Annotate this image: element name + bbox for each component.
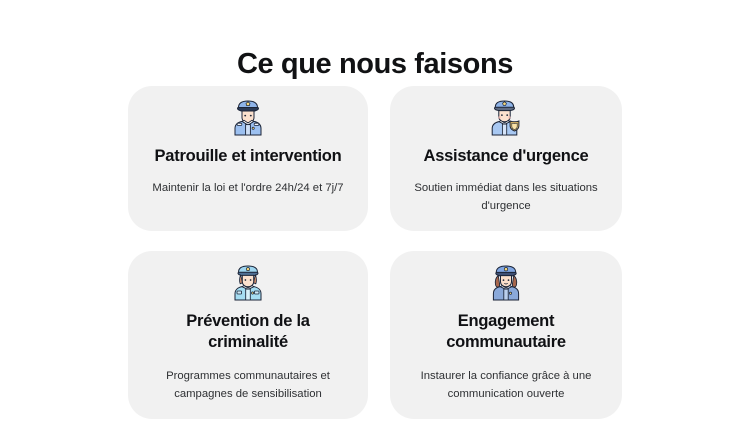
feature-card-patrol[interactable]: Patrouille et intervention Maintenir la … — [128, 86, 368, 231]
female-police-officer-braids-icon — [489, 265, 523, 301]
card-description: Soutien immédiat dans les situations d'u… — [406, 179, 606, 215]
female-police-officer-icon — [231, 265, 265, 301]
card-description: Programmes communautaires et campagnes d… — [153, 367, 343, 403]
feature-card-emergency[interactable]: Assistance d'urgence Soutien immédiat da… — [390, 86, 622, 231]
card-title: Engagement communautaire — [431, 311, 581, 353]
card-title: Patrouille et intervention — [155, 146, 342, 167]
card-title: Prévention de la criminalité — [168, 311, 328, 353]
what-we-do-section: Ce que nous faisons — [0, 0, 750, 432]
feature-cards-grid: Patrouille et intervention Maintenir la … — [128, 86, 622, 419]
feature-card-crime-prevention[interactable]: Prévention de la criminalité Programmes … — [128, 251, 368, 419]
feature-card-community-engagement[interactable]: Engagement communautaire Instaurer la co… — [390, 251, 622, 419]
page-title: Ce que nous faisons — [0, 45, 750, 83]
card-description: Maintenir la loi et l'ordre 24h/24 et 7j… — [152, 179, 343, 197]
card-description: Instaurer la confiance grâce à une commu… — [411, 367, 601, 403]
card-title: Assistance d'urgence — [424, 146, 589, 167]
police-officer-icon — [231, 100, 265, 136]
police-officer-shield-icon — [489, 100, 523, 136]
